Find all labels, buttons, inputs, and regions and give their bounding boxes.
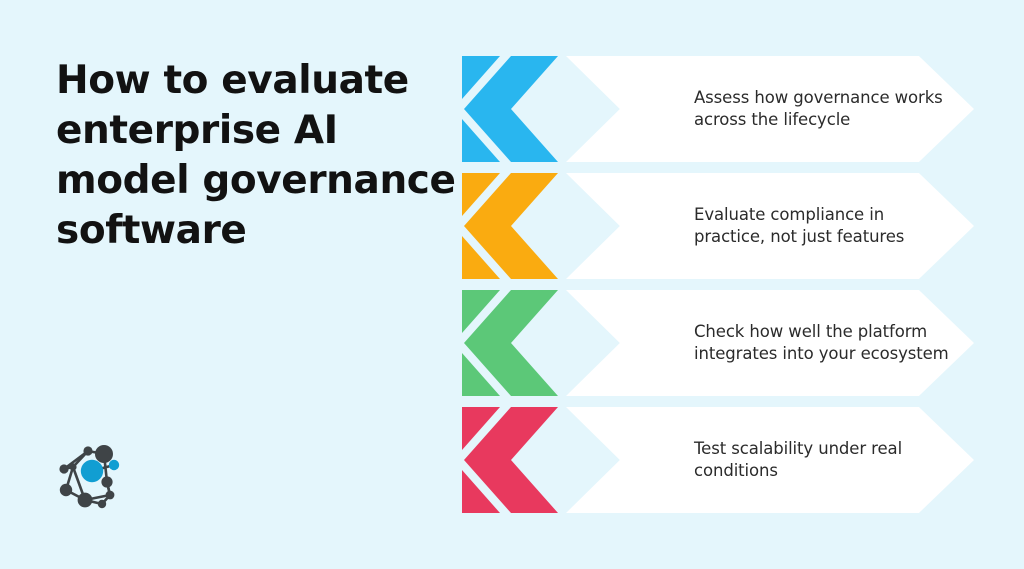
network-nodes-logo — [52, 438, 132, 518]
step-banner-3: Check how well the platform integrates i… — [566, 290, 974, 396]
step-label-4: Test scalability under real conditions — [694, 407, 956, 513]
chevron-pair-icon-1 — [462, 56, 562, 162]
step-banner-1: Assess how governance works across the l… — [566, 56, 974, 162]
title-block: How to evaluate enterprise AI model gove… — [56, 56, 476, 256]
step-row-1: Assess how governance works across the l… — [462, 56, 974, 162]
step-label-2: Evaluate compliance in practice, not jus… — [694, 173, 956, 279]
step-banner-4: Test scalability under real conditions — [566, 407, 974, 513]
page-title: How to evaluate enterprise AI model gove… — [56, 56, 476, 256]
step-row-3: Check how well the platform integrates i… — [462, 290, 974, 396]
step-banner-2: Evaluate compliance in practice, not jus… — [566, 173, 974, 279]
chevron-pair-icon-3 — [462, 290, 562, 396]
step-row-2: Evaluate compliance in practice, not jus… — [462, 173, 974, 279]
chevron-pair-icon-4 — [462, 407, 562, 513]
step-row-4: Test scalability under real conditions — [462, 407, 974, 513]
step-label-1: Assess how governance works across the l… — [694, 56, 956, 162]
infographic-slide: How to evaluate enterprise AI model gove… — [0, 0, 1024, 569]
step-label-3: Check how well the platform integrates i… — [694, 290, 956, 396]
chevron-pair-icon-2 — [462, 173, 562, 279]
